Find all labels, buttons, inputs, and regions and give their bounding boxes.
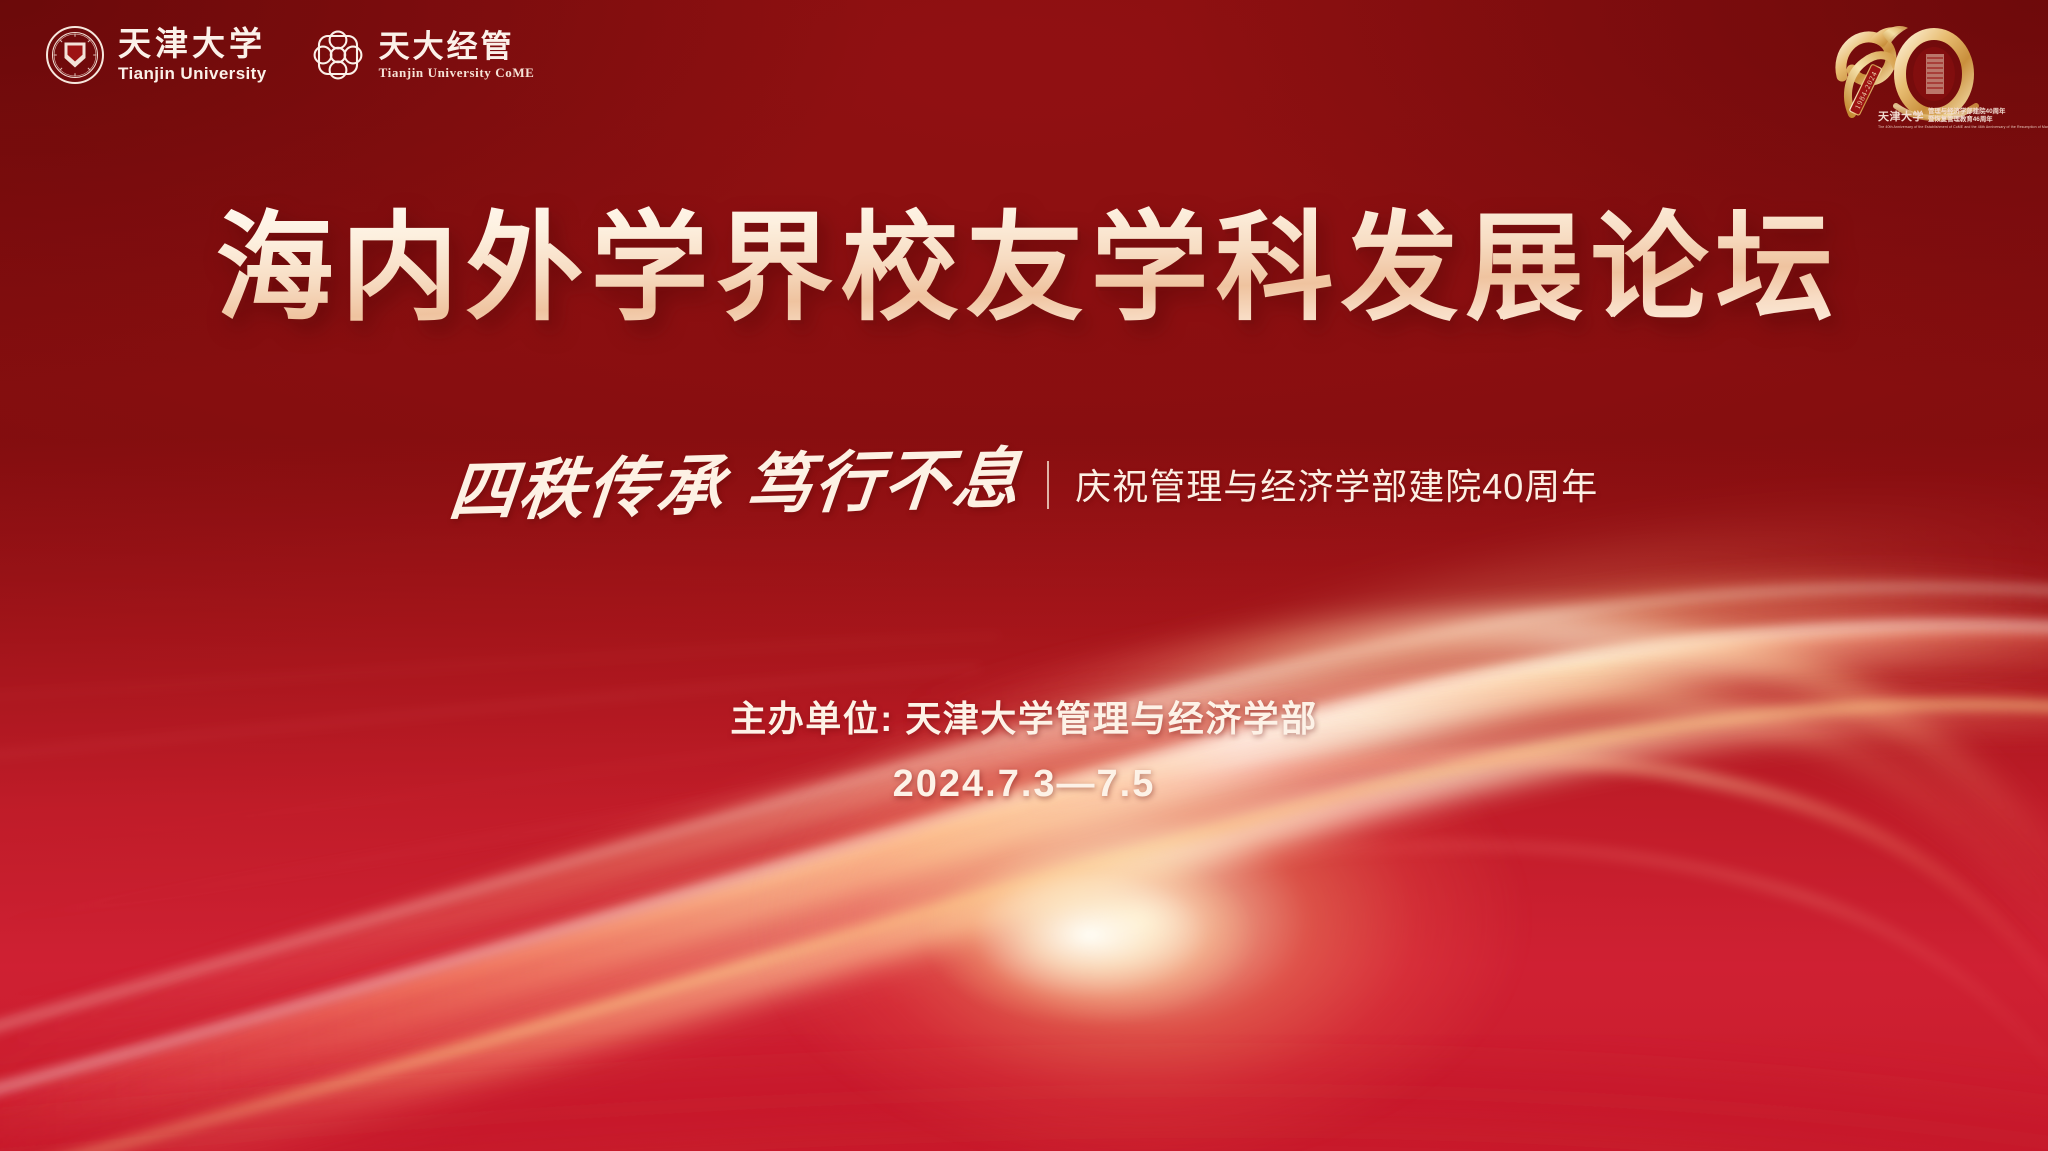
tianjin-university-seal-icon [46,26,104,84]
tianjin-university-wordmark: 天津大学 Tianjin University [118,29,267,82]
come-name-cn: 天大经管 [379,31,535,62]
emblem-line-2: 暨恢复管理教育46周年 [1928,116,2005,124]
calligraphy-slogan: 四秩传承 笃行不息 [446,447,1026,527]
emblem-caption: 天津大学 管理与经济学部建院40周年 暨恢复管理教育46周年 The 40th … [1878,108,2020,130]
event-info: 主办单位: 天津大学管理与经济学部 2024.7.3—7.5 [0,692,2048,809]
come-logo: 天大经管 Tianjin University CoME [311,28,535,82]
emblem-line-1: 管理与经济学部建院40周年 [1928,108,2005,116]
vertical-divider [1047,461,1049,509]
come-knot-icon [311,28,365,82]
poster-main-title: 海内外学界校友学科发展论坛 [0,206,2048,333]
event-dates: 2024.7.3—7.5 [0,760,2048,809]
header-logos: 天津大学 Tianjin University 天大经管 Tianjin Uni… [46,26,534,84]
event-poster: 天津大学 Tianjin University 天大经管 Tianjin Uni… [0,0,2048,1151]
tianjin-university-logo: 天津大学 Tianjin University [46,26,267,84]
anniversary-40-emblem: 1984-2024 天津大学 管理与经济学部建院40周年 暨恢复管理教育46周年… [1826,18,2022,136]
calligraphy-row: 四秩传承 笃行不息 庆祝管理与经济学部建院40周年 [0,454,2048,520]
come-name-en: Tianjin University CoME [379,66,535,79]
emblem-university: 天津大学 [1878,112,1924,123]
tu-name-cn: 天津大学 [118,29,267,62]
anniversary-subtitle: 庆祝管理与经济学部建院40周年 [1075,469,1598,505]
come-wordmark: 天大经管 Tianjin University CoME [379,31,535,79]
tu-name-en: Tianjin University [118,65,267,82]
light-hotspot-core [880,820,1300,1050]
emblem-english: The 40th Anniversary of the Establishmen… [1878,125,2020,130]
organizer-line: 主办单位: 天津大学管理与经济学部 [0,692,2048,746]
